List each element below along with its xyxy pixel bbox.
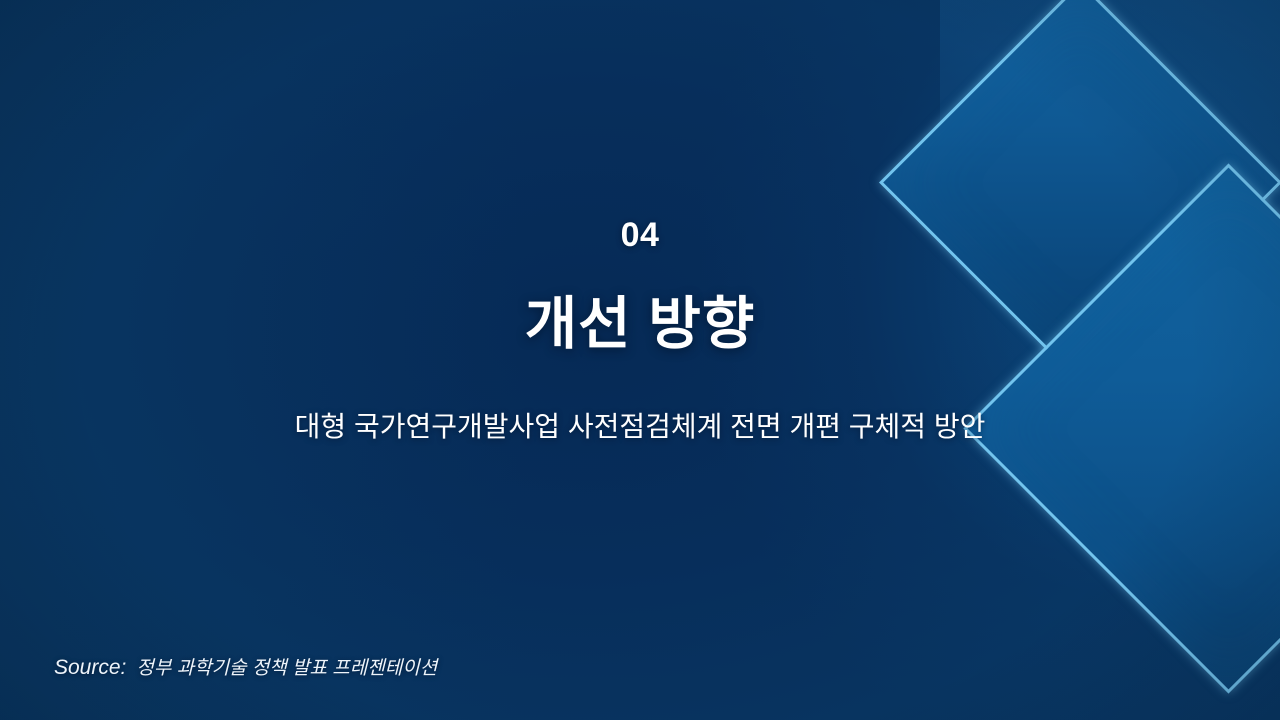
source-value: 정부 과학기술 정책 발표 프레젠테이션 — [136, 653, 437, 680]
section-subtitle: 대형 국가연구개발사업 사전점검체계 전면 개편 구체적 방안 — [0, 405, 1280, 445]
source-footer: Source: 정부 과학기술 정책 발표 프레젠테이션 — [54, 653, 437, 680]
title-slide: 04 개선 방향 대형 국가연구개발사업 사전점검체계 전면 개편 구체적 방안… — [0, 0, 1280, 720]
background-vignette — [0, 0, 1280, 720]
section-number: 04 — [0, 216, 1280, 255]
page-title: 개선 방향 — [0, 278, 1280, 360]
source-label: Source: — [54, 656, 126, 680]
decorative-shapes-layer — [0, 0, 1280, 720]
edge-sheen — [940, 0, 1280, 720]
background-left-wash — [0, 0, 520, 720]
background-right-glow — [700, 0, 1280, 720]
